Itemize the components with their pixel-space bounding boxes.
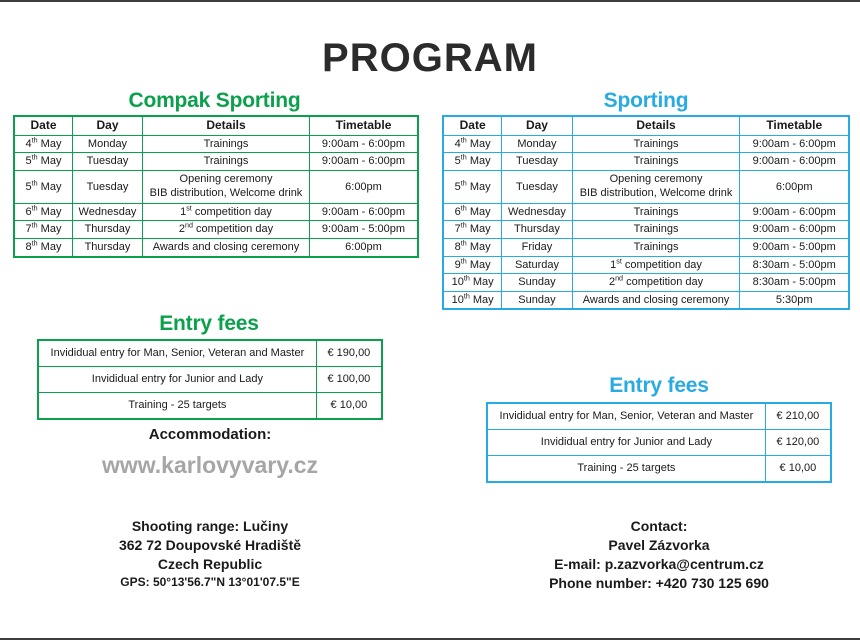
compak-sporting-table: Date Day Details Timetable 4th MayMonday…	[14, 116, 418, 257]
cell-details: Awards and closing ceremony	[572, 291, 740, 309]
cell-timetable: 8:30am - 5:00pm	[740, 256, 849, 274]
cell-timetable: 6:00pm	[310, 238, 418, 256]
cell-fee-description: Invididual entry for Junior and Lady	[488, 430, 766, 456]
cell-details: Trainings	[143, 153, 310, 171]
cell-date: 5th May	[15, 153, 73, 171]
venue-country: Czech Republic	[38, 555, 382, 574]
cell-timetable: 9:00am - 6:00pm	[310, 203, 418, 221]
venue-gps: GPS: 50°13'56.7"N 13°01'07.5"E	[38, 574, 382, 590]
details-line-1: Opening ceremony	[576, 173, 737, 187]
cell-timetable: 9:00am - 6:00pm	[310, 135, 418, 153]
date-ordinal-suffix: th	[464, 292, 470, 300]
entry-fees-table-compak: Invididual entry for Man, Senior, Vetera…	[38, 340, 382, 419]
date-ordinal-suffix: th	[461, 239, 467, 247]
table-row: 4th MayMondayTrainings9:00am - 6:00pm	[15, 135, 418, 153]
entry-fees-heading-sporting: Entry fees	[487, 375, 831, 396]
cell-date: 10th May	[444, 291, 502, 309]
cell-fee-description: Invididual entry for Junior and Lady	[39, 367, 317, 393]
venue-address: 362 72 Doupovské Hradiště	[38, 536, 382, 555]
details-line-1: Opening ceremony	[146, 173, 306, 187]
entry-fees-table-sporting: Invididual entry for Man, Senior, Vetera…	[487, 403, 831, 482]
table-header-row: Date Day Details Timetable	[444, 117, 849, 136]
cell-date: 6th May	[444, 203, 502, 221]
table-row: 10th MaySunday2nd competition day8:30am …	[444, 274, 849, 292]
date-ordinal-suffix: th	[461, 136, 467, 144]
table-row: 7th MayThursday2nd competition day9:00am…	[15, 221, 418, 239]
cell-fee-amount: € 10,00	[316, 393, 381, 419]
date-ordinal-suffix: th	[461, 222, 467, 230]
cell-fee-amount: € 100,00	[316, 367, 381, 393]
cell-date: 8th May	[444, 238, 502, 256]
date-ordinal-suffix: th	[461, 204, 467, 212]
column-header-date: Date	[15, 117, 73, 136]
cell-day: Tuesday	[73, 153, 143, 171]
cell-details: Opening ceremonyBIB distribution, Welcom…	[143, 171, 310, 204]
cell-timetable: 9:00am - 5:00pm	[310, 221, 418, 239]
cell-day: Monday	[502, 135, 572, 153]
cell-timetable: 9:00am - 6:00pm	[740, 153, 849, 171]
cell-date: 9th May	[444, 256, 502, 274]
fee-row: Invididual entry for Junior and Lady€ 12…	[488, 430, 831, 456]
details-line-2: BIB distribution, Welcome drink	[146, 187, 306, 201]
fee-row: Training - 25 targets€ 10,00	[488, 456, 831, 482]
cell-fee-description: Training - 25 targets	[488, 456, 766, 482]
fee-row: Invididual entry for Man, Senior, Vetera…	[39, 341, 382, 367]
cell-timetable: 9:00am - 6:00pm	[310, 153, 418, 171]
table-row: 8th MayThursdayAwards and closing ceremo…	[15, 238, 418, 256]
contact-name: Pavel Zázvorka	[487, 536, 831, 555]
cell-fee-amount: € 10,00	[765, 456, 830, 482]
page-title: PROGRAM	[0, 38, 860, 78]
column-header-day: Day	[73, 117, 143, 136]
accommodation-label: Accommodation:	[38, 425, 382, 445]
cell-details: Awards and closing ceremony	[143, 238, 310, 256]
cell-details: Trainings	[572, 238, 740, 256]
date-ordinal-suffix: th	[32, 222, 38, 230]
cell-day: Sunday	[502, 291, 572, 309]
date-ordinal-suffix: th	[464, 274, 470, 282]
cell-date: 4th May	[15, 135, 73, 153]
table-row: 4th MayMondayTrainings9:00am - 6:00pm	[444, 135, 849, 153]
compak-sporting-heading: Compak Sporting	[14, 90, 415, 111]
sporting-heading: Sporting	[443, 90, 849, 111]
date-ordinal-suffix: th	[32, 204, 38, 212]
details-ordinal-suffix: nd	[185, 222, 193, 230]
details-ordinal-suffix: st	[616, 257, 622, 265]
cell-date: 5th May	[15, 171, 73, 204]
cell-timetable: 6:00pm	[310, 171, 418, 204]
date-ordinal-suffix: th	[32, 239, 38, 247]
cell-day: Thursday	[73, 238, 143, 256]
cell-day: Wednesday	[73, 203, 143, 221]
contact-phone[interactable]: Phone number: +420 730 125 690	[487, 574, 831, 593]
cell-date: 4th May	[444, 135, 502, 153]
cell-day: Thursday	[73, 221, 143, 239]
accommodation-url[interactable]: www.karlovyvary.cz	[38, 450, 382, 481]
cell-day: Saturday	[502, 256, 572, 274]
cell-timetable: 9:00am - 6:00pm	[740, 221, 849, 239]
column-header-timetable: Timetable	[310, 117, 418, 136]
table-row: 6th MayWednesday1st competition day9:00a…	[15, 203, 418, 221]
column-header-timetable: Timetable	[740, 117, 849, 136]
cell-timetable: 6:00pm	[740, 171, 849, 204]
date-ordinal-suffix: th	[32, 136, 38, 144]
cell-date: 6th May	[15, 203, 73, 221]
contact-label: Contact:	[487, 517, 831, 536]
cell-date: 5th May	[444, 171, 502, 204]
table-row: 5th MayTuesdayOpening ceremonyBIB distri…	[15, 171, 418, 204]
cell-timetable: 9:00am - 5:00pm	[740, 238, 849, 256]
date-ordinal-suffix: th	[461, 179, 467, 187]
column-header-date: Date	[444, 117, 502, 136]
cell-details: 1st competition day	[572, 256, 740, 274]
fee-row: Training - 25 targets€ 10,00	[39, 393, 382, 419]
date-ordinal-suffix: th	[461, 257, 467, 265]
cell-day: Wednesday	[502, 203, 572, 221]
table-row: 5th MayTuesdayTrainings9:00am - 6:00pm	[15, 153, 418, 171]
cell-day: Tuesday	[73, 171, 143, 204]
cell-fee-description: Invididual entry for Man, Senior, Vetera…	[39, 341, 317, 367]
cell-details: Trainings	[572, 203, 740, 221]
cell-day: Thursday	[502, 221, 572, 239]
cell-date: 8th May	[15, 238, 73, 256]
date-ordinal-suffix: th	[461, 154, 467, 162]
cell-fee-amount: € 120,00	[765, 430, 830, 456]
table-row: 7th MayThursdayTrainings9:00am - 6:00pm	[444, 221, 849, 239]
table-row: 5th MayTuesdayTrainings9:00am - 6:00pm	[444, 153, 849, 171]
program-poster: PROGRAM Compak Sporting Date Day Details…	[0, 0, 860, 640]
date-ordinal-suffix: th	[32, 179, 38, 187]
cell-details: Trainings	[572, 221, 740, 239]
cell-details: Trainings	[143, 135, 310, 153]
cell-details: 1st competition day	[143, 203, 310, 221]
contact-email[interactable]: E-mail: p.zazvorka@centrum.cz	[487, 555, 831, 574]
column-header-details: Details	[572, 117, 740, 136]
cell-details: Trainings	[572, 135, 740, 153]
fee-row: Invididual entry for Junior and Lady€ 10…	[39, 367, 382, 393]
cell-details: 2nd competition day	[143, 221, 310, 239]
fee-row: Invididual entry for Man, Senior, Vetera…	[488, 404, 831, 430]
cell-timetable: 9:00am - 6:00pm	[740, 203, 849, 221]
column-header-day: Day	[502, 117, 572, 136]
cell-details: Opening ceremonyBIB distribution, Welcom…	[572, 171, 740, 204]
cell-day: Tuesday	[502, 171, 572, 204]
cell-date: 5th May	[444, 153, 502, 171]
cell-timetable: 9:00am - 6:00pm	[740, 135, 849, 153]
date-ordinal-suffix: th	[32, 154, 38, 162]
table-row: 9th MaySaturday1st competition day8:30am…	[444, 256, 849, 274]
table-header-row: Date Day Details Timetable	[15, 117, 418, 136]
cell-details: Trainings	[572, 153, 740, 171]
column-header-details: Details	[143, 117, 310, 136]
cell-timetable: 8:30am - 5:00pm	[740, 274, 849, 292]
venue-shooting-range: Shooting range: Lučiny	[38, 517, 382, 536]
cell-fee-amount: € 210,00	[765, 404, 830, 430]
cell-day: Sunday	[502, 274, 572, 292]
cell-timetable: 5:30pm	[740, 291, 849, 309]
cell-fee-description: Invididual entry for Man, Senior, Vetera…	[488, 404, 766, 430]
entry-fees-heading-compak: Entry fees	[38, 313, 380, 334]
table-row: 10th MaySundayAwards and closing ceremon…	[444, 291, 849, 309]
contact-block: Contact: Pavel Zázvorka E-mail: p.zazvor…	[487, 517, 831, 593]
venue-block: Shooting range: Lučiny 362 72 Doupovské …	[38, 517, 382, 590]
cell-fee-amount: € 190,00	[316, 341, 381, 367]
cell-date: 10th May	[444, 274, 502, 292]
details-ordinal-suffix: nd	[615, 274, 623, 282]
cell-day: Tuesday	[502, 153, 572, 171]
table-row: 8th MayFridayTrainings9:00am - 5:00pm	[444, 238, 849, 256]
sporting-table: Date Day Details Timetable 4th MayMonday…	[443, 116, 849, 309]
table-row: 6th MayWednesdayTrainings9:00am - 6:00pm	[444, 203, 849, 221]
cell-details: 2nd competition day	[572, 274, 740, 292]
cell-day: Monday	[73, 135, 143, 153]
cell-fee-description: Training - 25 targets	[39, 393, 317, 419]
table-row: 5th MayTuesdayOpening ceremonyBIB distri…	[444, 171, 849, 204]
cell-date: 7th May	[15, 221, 73, 239]
cell-day: Friday	[502, 238, 572, 256]
details-line-2: BIB distribution, Welcome drink	[576, 187, 737, 201]
cell-date: 7th May	[444, 221, 502, 239]
details-ordinal-suffix: st	[186, 204, 192, 212]
